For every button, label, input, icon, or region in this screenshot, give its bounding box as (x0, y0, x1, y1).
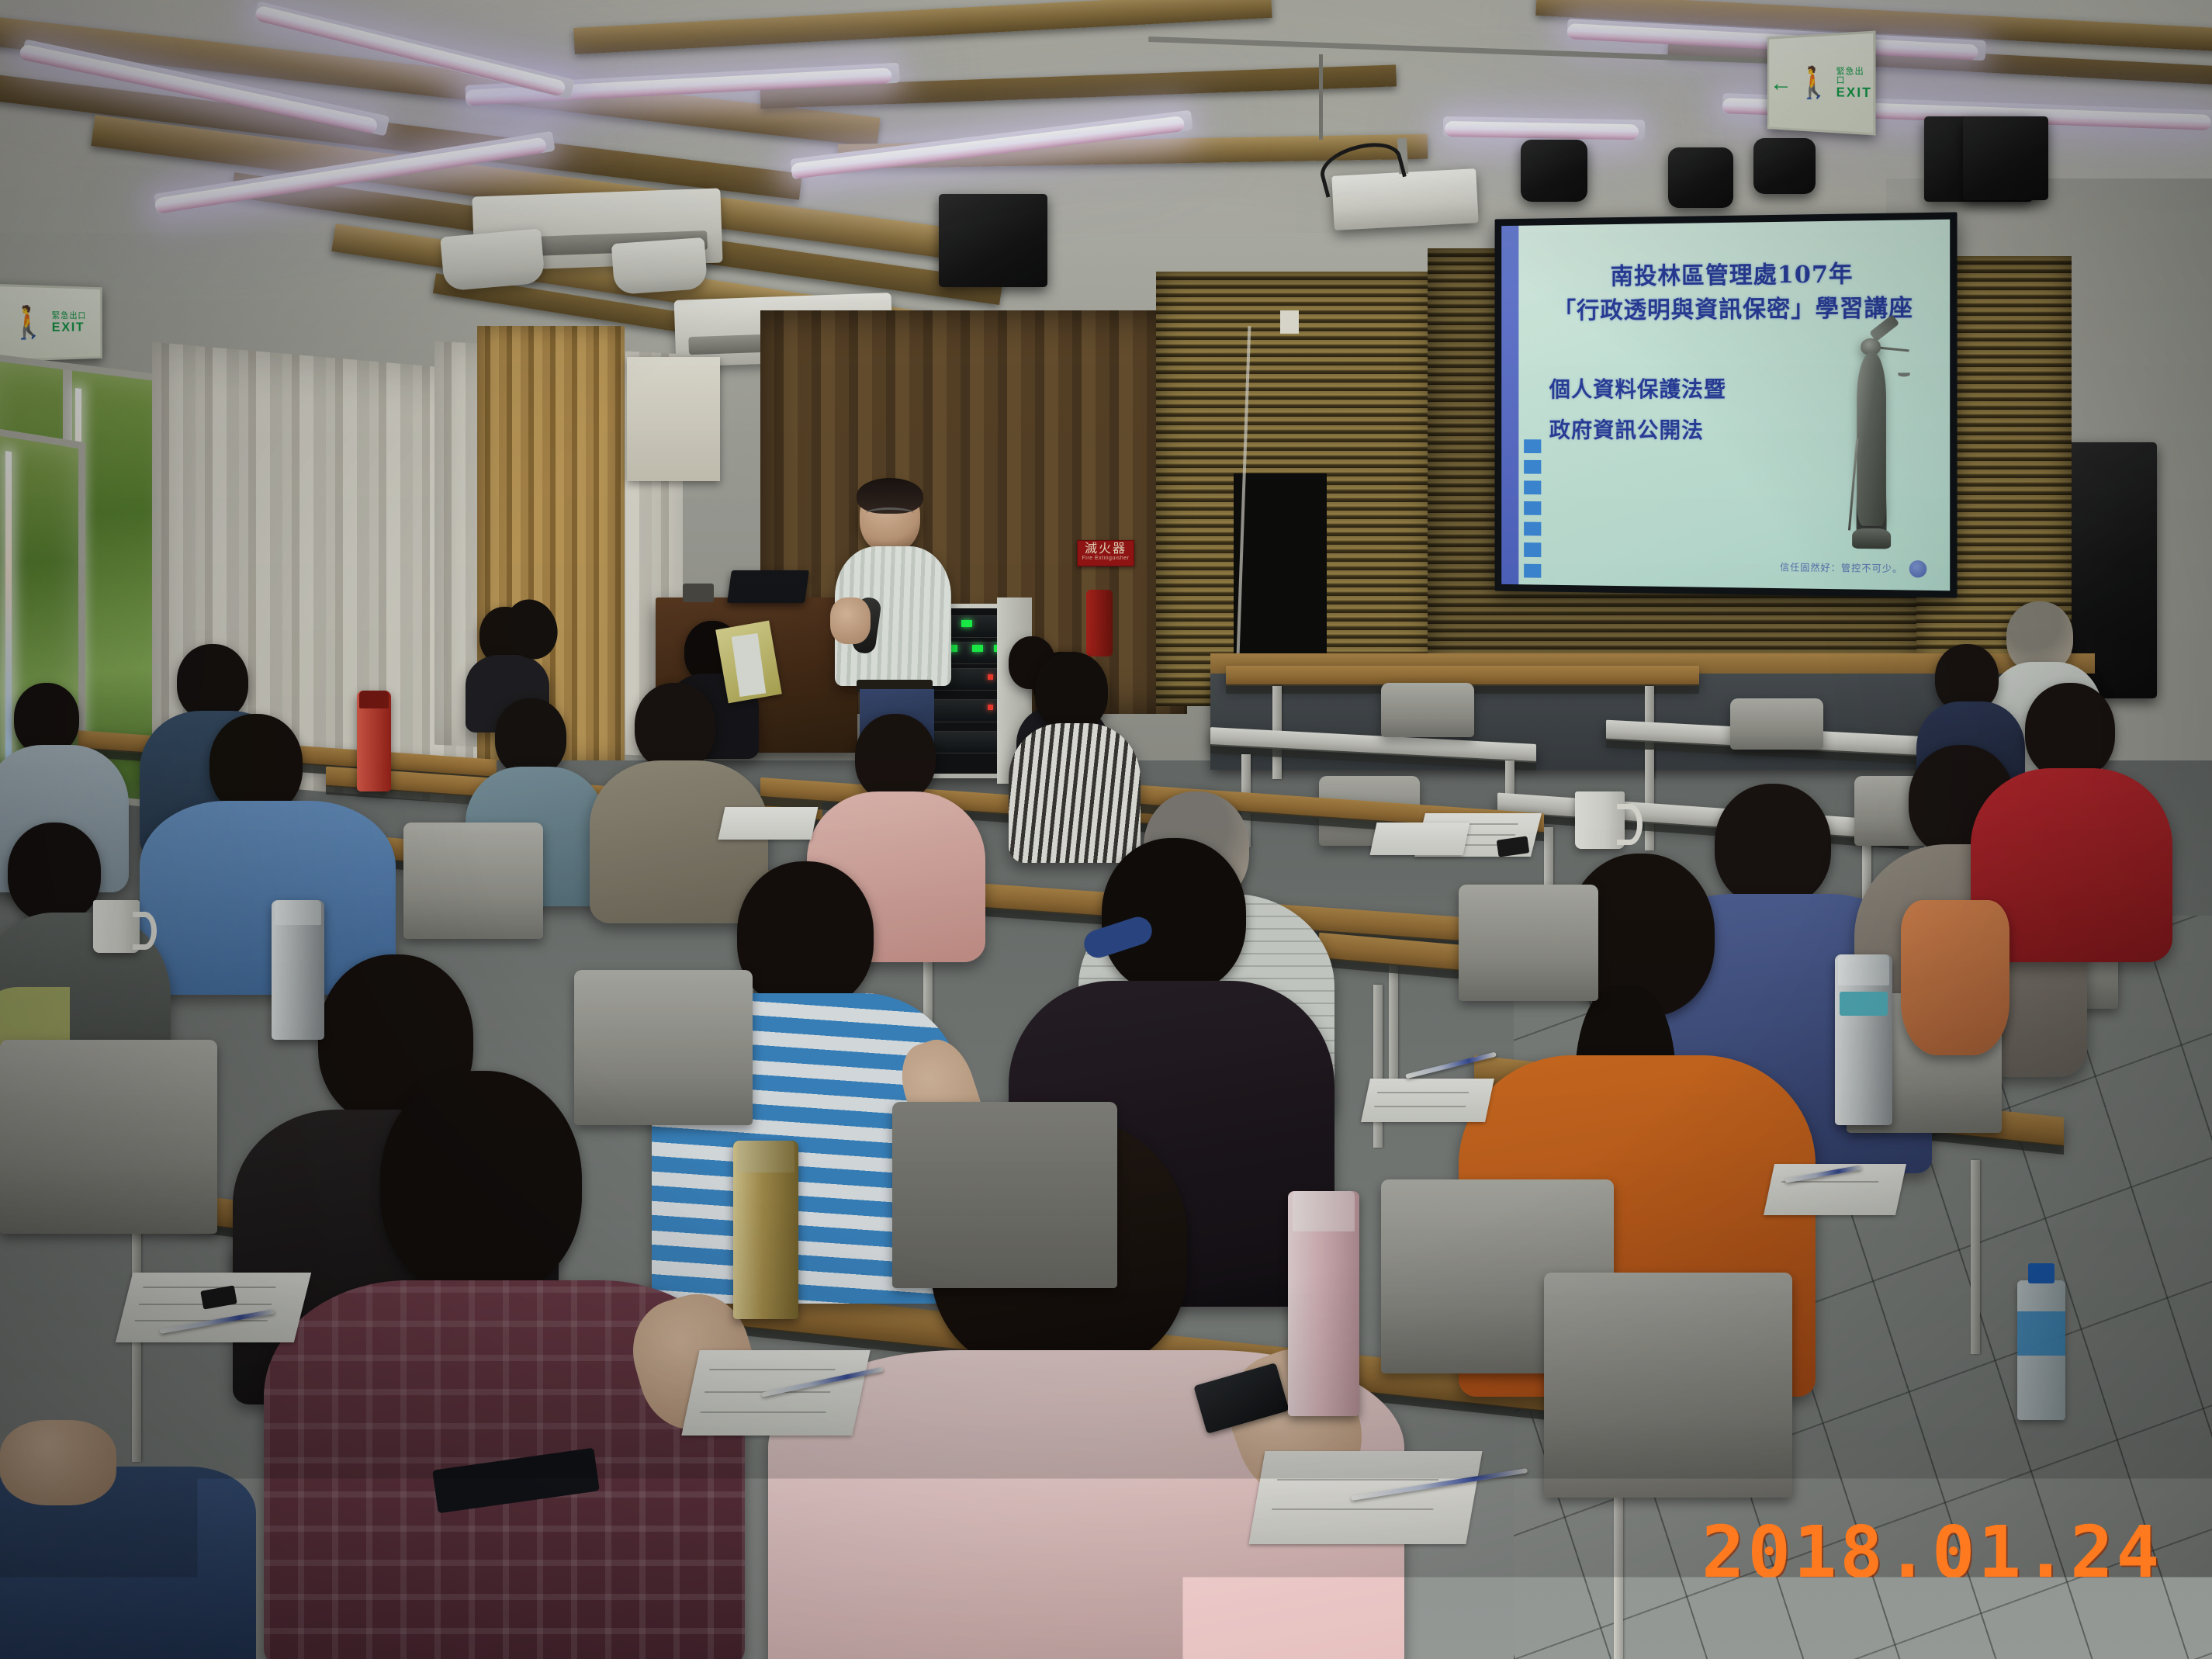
chair[interactable] (574, 970, 753, 1125)
chair[interactable] (0, 1040, 217, 1234)
slide-body-line-1: 個人資料保護法暨 (1549, 369, 1726, 410)
wall-speaker-black (1963, 116, 2048, 200)
gold-thermos-flask[interactable] (733, 1141, 798, 1319)
presenter (822, 481, 962, 737)
exit-sign-label-cn: 緊急出口 (1836, 67, 1872, 85)
slide-accent-stripe (1501, 226, 1518, 584)
plastic-water-bottle[interactable] (2017, 1280, 2065, 1420)
red-water-bottle[interactable] (357, 691, 391, 791)
chair[interactable] (892, 1102, 1117, 1288)
handbag (1901, 900, 2009, 1055)
hand (0, 1420, 116, 1505)
fire-extinguisher-label-cn: 滅火器 (1082, 543, 1130, 556)
ceiling-projector[interactable] (1331, 168, 1478, 230)
wall-speaker-black (1753, 138, 1816, 194)
projection-screen: 南投林區管理處107年 「行政透明與資訊保密」學習講座 個人資料保護法暨 政府資… (1495, 212, 1958, 597)
wall-speaker-black (1521, 140, 1587, 202)
running-person-icon: 🚶 (9, 307, 47, 338)
slide-surface: 南投林區管理處107年 「行政透明與資訊保密」學習講座 個人資料保護法暨 政府資… (1501, 220, 1950, 591)
chair-empty[interactable] (1381, 683, 1474, 737)
fire-extinguisher (1086, 590, 1113, 656)
slide-decorative-squares (1524, 412, 1541, 577)
exit-sign-left-wall: 🚶 緊急出口 EXIT (0, 284, 102, 362)
chair-empty[interactable] (1730, 698, 1823, 750)
wall-speaker-black (1668, 147, 1733, 208)
white-ceramic-mug[interactable] (1575, 791, 1625, 849)
presenter-laptop[interactable] (727, 570, 809, 603)
handout-paper (1361, 1079, 1494, 1122)
slide-body: 個人資料保護法暨 政府資訊公開法 (1549, 369, 1726, 451)
slide-body-line-2: 政府資訊公開法 (1549, 410, 1726, 451)
wall-socket (1280, 310, 1299, 334)
running-person-icon: 🚶 (1796, 68, 1832, 99)
chair[interactable] (1459, 885, 1598, 1001)
steel-thermos-flask[interactable] (1835, 954, 1892, 1125)
ceiling-rod (1319, 54, 1323, 140)
fire-extinguisher-sign: 滅火器 Fire Extinguisher (1077, 540, 1134, 566)
glasses-icon (866, 507, 914, 519)
chair[interactable] (403, 823, 543, 939)
wall-speaker-black (939, 194, 1047, 287)
chair[interactable] (1544, 1273, 1792, 1498)
wall-poster (627, 357, 720, 481)
slide-footer: 信任固然好：管控不可少。 (1780, 558, 1926, 577)
presenter-hand (830, 597, 871, 644)
exit-sign-label-en: EXIT (52, 320, 87, 334)
seminar-room-photo: ← 🚶 緊急出口 EXIT 🚶 緊急出口 EXIT 滅火器 Fire Exti (0, 0, 2212, 1659)
slide-title: 南投林區管理處107年 「行政透明與資訊保密」學習講座 (1545, 257, 1922, 327)
white-ceramic-mug[interactable] (93, 900, 140, 953)
pen-holder (683, 584, 714, 602)
pink-thermos-flask[interactable] (1288, 1191, 1359, 1416)
slide-footer-text: 信任固然好：管控不可少。 (1780, 560, 1902, 575)
fire-extinguisher-label-en: Fire Extinguisher (1082, 556, 1130, 561)
ceiling-speaker-white (440, 228, 545, 291)
handout-paper (1370, 823, 1470, 855)
arrow-left-icon: ← (1770, 71, 1792, 96)
camera-date-stamp: 2018.01.24 (1701, 1511, 2162, 1594)
attendee-plaid-foreground-left (264, 1071, 745, 1659)
ceiling-speaker-white (611, 237, 708, 295)
steel-thermos-flask[interactable] (272, 900, 324, 1040)
attendee-denim-bottom-left (0, 1420, 287, 1659)
organization-logo-icon (1909, 560, 1927, 578)
lady-justice-statue-icon (1835, 320, 1909, 549)
slide-title-line-1: 南投林區管理處107年 (1545, 257, 1922, 295)
exit-sign-label-en: EXIT (1836, 85, 1872, 99)
handout-paper (718, 807, 819, 840)
exit-sign-ceiling: ← 🚶 緊急出口 EXIT (1767, 30, 1876, 135)
